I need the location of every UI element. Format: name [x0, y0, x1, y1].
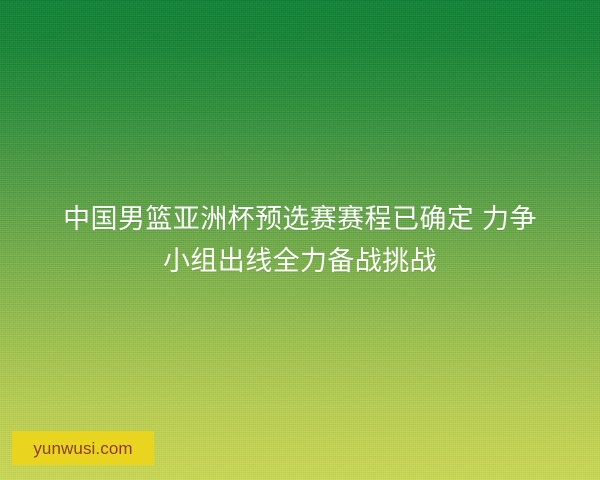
text-banner-card: 中国男篮亚洲杯预选赛赛程已确定 力争 小组出线全力备战挑战 yunwusi.co…: [0, 0, 600, 480]
watermark-label: yunwusi.com: [33, 440, 132, 457]
headline-line-1: 中国男篮亚洲杯预选赛赛程已确定 力争: [22, 198, 578, 240]
watermark-badge: yunwusi.com: [12, 431, 154, 465]
headline-line-2: 小组出线全力备战挑战: [22, 240, 578, 282]
headline-block: 中国男篮亚洲杯预选赛赛程已确定 力争 小组出线全力备战挑战: [0, 198, 600, 282]
